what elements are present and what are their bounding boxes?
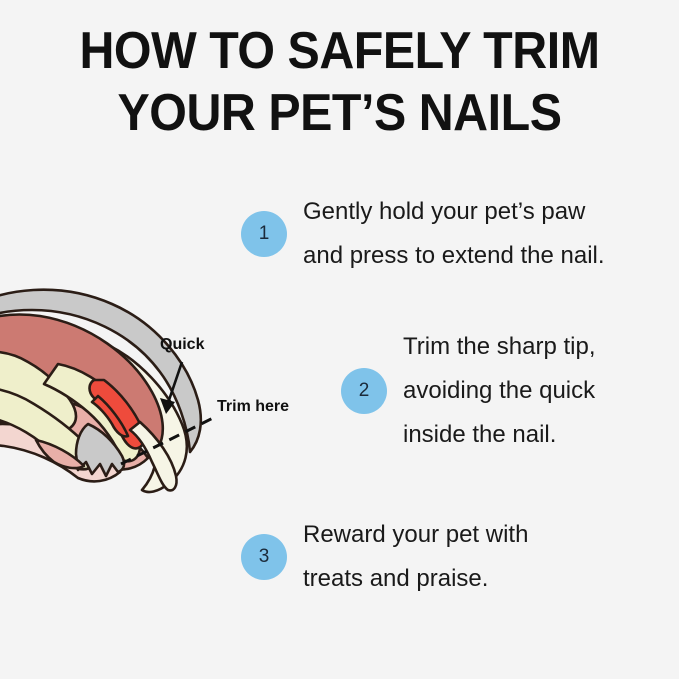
step-item-1: 1 Gently hold your pet’s paw and press t… xyxy=(241,190,651,278)
page-title: HOW TO SAFELY TRIM YOUR PET’S NAILS xyxy=(0,20,679,144)
infographic-page: HOW TO SAFELY TRIM YOUR PET’S NAILS xyxy=(0,0,679,679)
step-number-badge-1: 1 xyxy=(241,211,287,257)
step-number-badge-2: 2 xyxy=(341,368,387,414)
title-line-2: YOUR PET’S NAILS xyxy=(24,82,655,144)
annotation-label-trim-here: Trim here xyxy=(217,398,289,416)
step-number-badge-3: 3 xyxy=(241,534,287,580)
title-line-1: HOW TO SAFELY TRIM xyxy=(24,20,655,82)
step-text-3: Reward your pet with treats and praise. xyxy=(303,513,528,601)
dog-claw-diagram xyxy=(0,272,312,512)
annotation-label-quick: Quick xyxy=(160,336,204,354)
step-text-1: Gently hold your pet’s paw and press to … xyxy=(303,190,605,278)
step-text-2: Trim the sharp tip, avoiding the quick i… xyxy=(403,325,596,457)
step-item-3: 3 Reward your pet with treats and praise… xyxy=(241,513,641,601)
step-item-2: 2 Trim the sharp tip, avoiding the quick… xyxy=(341,325,661,457)
